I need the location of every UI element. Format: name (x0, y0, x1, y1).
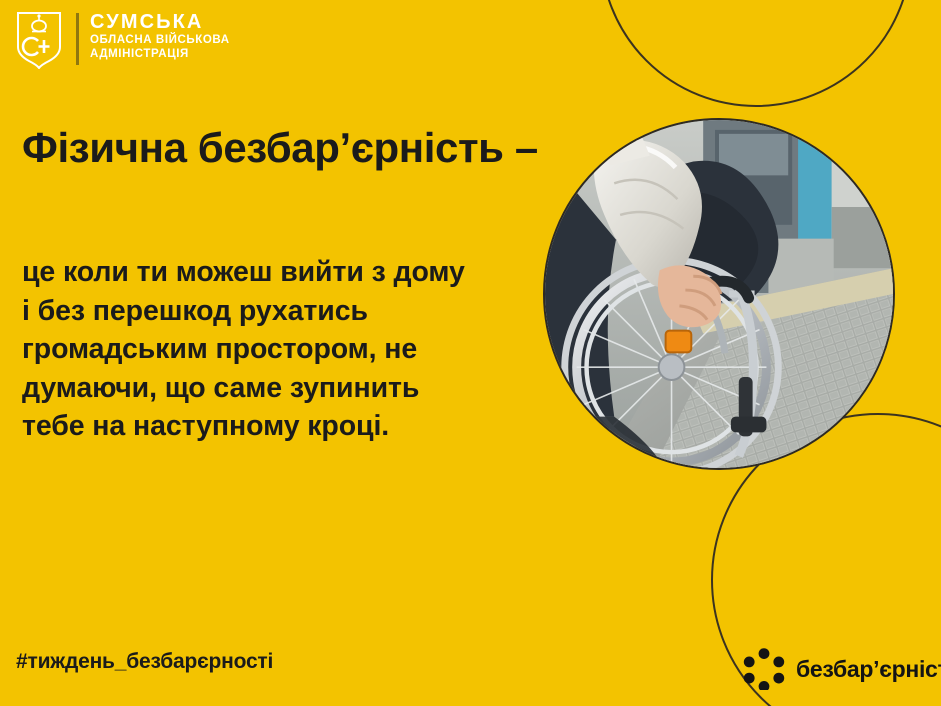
decorative-circle-top-right-icon (600, 0, 912, 107)
body-text-line: думаючи, що саме зупинить (22, 369, 552, 408)
header-divider (76, 13, 79, 65)
body-text-line: це коли ти можеш вийти з дому (22, 253, 552, 292)
body-text-line: і без перешкод рухатись (22, 292, 552, 331)
organization-name-block: СУМСЬКА ОБЛАСНА ВІЙСЬКОВА АДМІНІСТРАЦІЯ (90, 11, 230, 61)
poster-canvas: СУМСЬКА ОБЛАСНА ВІЙСЬКОВА АДМІНІСТРАЦІЯ … (0, 0, 941, 706)
body-text-line: тебе на наступному кроці. (22, 407, 552, 446)
organization-subtitle-line1: ОБЛАСНА ВІЙСЬКОВА (90, 33, 230, 47)
campaign-hashtag: #тиждень_безбарєрності (16, 650, 273, 674)
sumy-coat-of-arms-icon (16, 11, 62, 69)
wheelchair-photo (543, 118, 895, 470)
organization-subtitle-line2: АДМІНІСТРАЦІЯ (90, 47, 230, 61)
barrier-free-dots-icon (742, 648, 786, 690)
organization-name: СУМСЬКА (90, 12, 230, 33)
wheelchair-photo-illustration (545, 120, 893, 468)
body-text-line: громадським простором, не (22, 330, 552, 369)
organization-logo: СУМСЬКА ОБЛАСНА ВІЙСЬКОВА АДМІНІСТРАЦІЯ (16, 11, 230, 73)
barrier-free-wordmark: безбар’єрність (796, 656, 941, 683)
barrier-free-brand-logo: безбар’єрність (742, 648, 941, 690)
headline: Фізична безбар’єрність – (22, 124, 642, 172)
body-text: це коли ти можеш вийти з дому і без пере… (22, 253, 552, 446)
